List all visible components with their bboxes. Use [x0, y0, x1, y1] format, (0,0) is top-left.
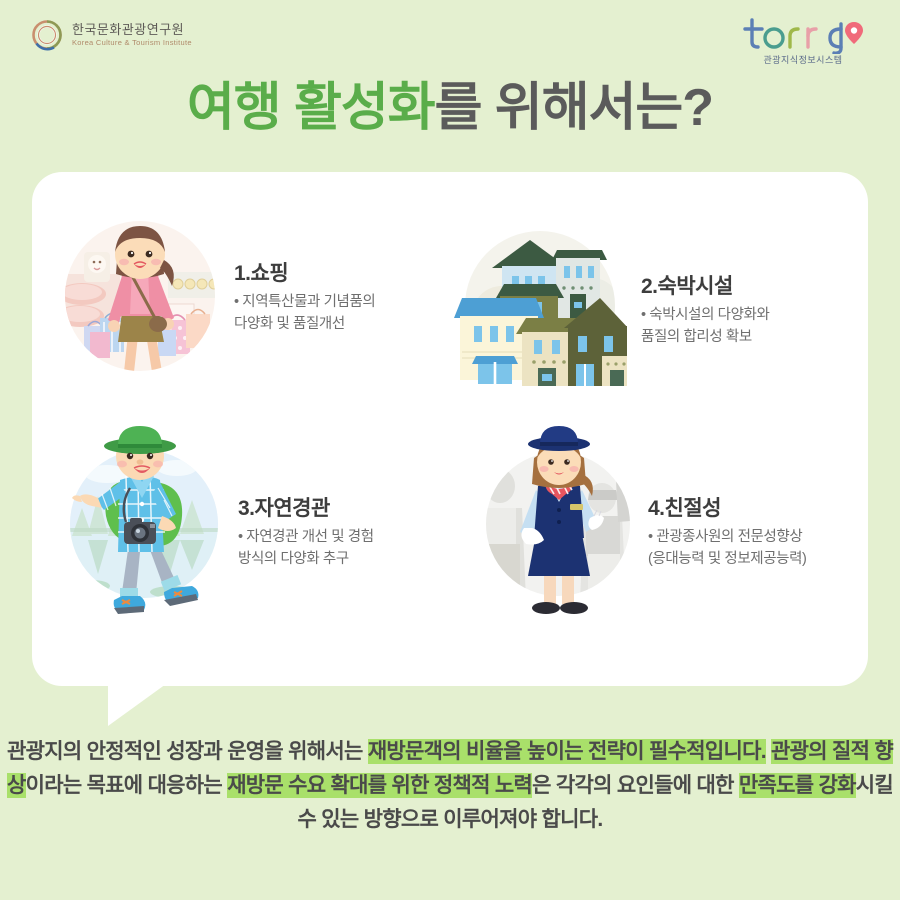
item-hospitality-title: 4.친절성	[648, 492, 806, 522]
institute-logo: 한국문화관광연구원 Korea Culture & Tourism Instit…	[30, 18, 192, 52]
paragraph-text: 이라는 목표에 대응하는	[26, 774, 228, 797]
tour-guide-illustration-icon	[478, 424, 638, 624]
hiker-illustration-icon	[52, 424, 232, 624]
institute-name-ko: 한국문화관광연구원	[72, 23, 192, 37]
tourgo-subtitle: 관광지식정보시스템	[738, 53, 868, 66]
page-title-dark: 를 위해서는?	[435, 79, 713, 137]
shopping-woman-illustration-icon	[60, 216, 220, 376]
kcti-circle-logo-icon	[30, 18, 64, 52]
highlighted-phrase: 재방문객의 비율을 높이는 전략이 필수적입니다.	[368, 739, 766, 764]
paragraph-text: 관광지의 안정적인 성장과 운영을 위해서는	[7, 740, 368, 763]
item-nature: 3.자연경관 • 자연경관 개선 및 경험 방식의 다양화 추구	[52, 424, 374, 624]
houses-illustration-icon	[452, 206, 627, 386]
item-accommodation: 2.숙박시설 • 숙박시설의 다양화와 품질의 합리성 확보	[452, 206, 769, 386]
speech-bubble-tail	[108, 684, 166, 726]
highlighted-phrase: 재방문 수요 확대를 위한 정책적 노력	[227, 773, 532, 798]
highlighted-phrase: 만족도를 강화	[739, 773, 856, 798]
item-nature-desc: • 자연경관 개선 및 경험 방식의 다양화 추구	[238, 527, 374, 569]
item-nature-title: 3.자연경관	[238, 492, 374, 522]
item-hospitality-desc: • 관광종사원의 전문성향상 (응대능력 및 정보제공능력)	[648, 527, 806, 569]
page-header: 한국문화관광연구원 Korea Culture & Tourism Instit…	[0, 0, 900, 78]
page-title: 여행 활성화를 위해서는?	[0, 82, 900, 134]
page-title-green: 여행 활성화	[187, 79, 435, 137]
institute-name-en: Korea Culture & Tourism Institute	[72, 39, 192, 47]
item-accommodation-desc: • 숙박시설의 다양화와 품질의 합리성 확보	[641, 305, 769, 347]
bottom-paragraph: 관광지의 안정적인 성장과 운영을 위해서는 재방문객의 비율을 높이는 전략이…	[0, 735, 900, 837]
item-shopping-desc: • 지역특산물과 기념품의 다양화 및 품질개선	[234, 292, 375, 334]
item-hospitality: 4.친절성 • 관광종사원의 전문성향상 (응대능력 및 정보제공능력)	[478, 424, 806, 624]
item-accommodation-title: 2.숙박시설	[641, 270, 769, 300]
tourgo-wordmark-icon	[738, 14, 868, 52]
item-shopping-title: 1.쇼핑	[234, 257, 375, 287]
item-shopping: 1.쇼핑 • 지역특산물과 기념품의 다양화 및 품질개선	[60, 216, 375, 376]
paragraph-text: 은 각각의 요인들에 대한	[532, 774, 739, 797]
tourgo-logo: 관광지식정보시스템	[738, 14, 868, 66]
